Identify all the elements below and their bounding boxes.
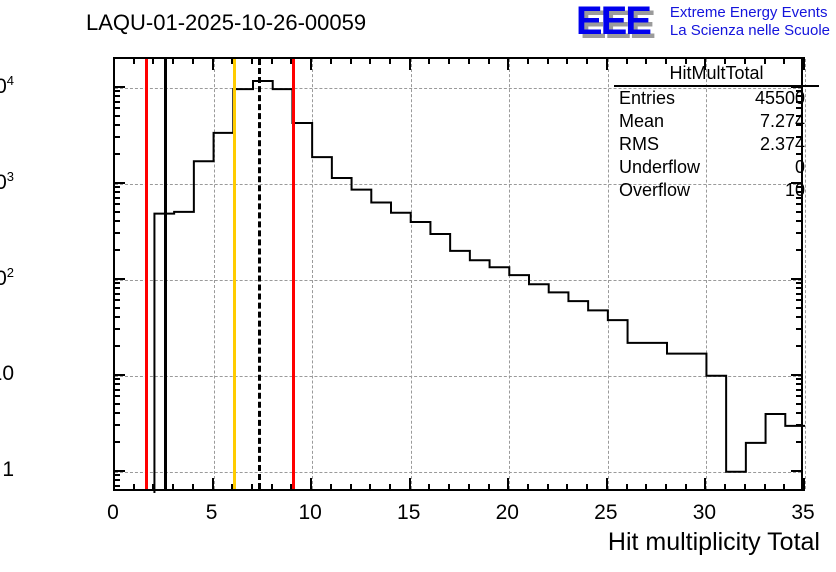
x-tick-top-minor-21	[527, 57, 529, 64]
x-tick-label-30: 30	[693, 501, 716, 525]
x-tick-minor-21	[527, 484, 529, 491]
x-tick-major-30	[704, 478, 706, 491]
eee-logo-mark: EEE EEE	[576, 2, 664, 42]
x-tick-top-minor-9	[290, 57, 292, 64]
page-title: LAQU-01-2025-10-26-00059	[86, 10, 366, 36]
x-axis-title: Hit multiplicity Total	[608, 528, 820, 557]
stats-box: HitMultTotal Entries45500Mean7.274RMS2.3…	[614, 63, 819, 202]
x-tick-minor-17	[448, 484, 450, 491]
eee-logo-line2: La Scienza nelle Scuole	[670, 22, 830, 40]
x-tick-top-minor-13	[369, 57, 371, 64]
x-tick-minor-2	[152, 484, 154, 491]
stats-row-underflow: Underflow0	[614, 156, 819, 179]
y-tick-label-4: 104	[0, 73, 14, 99]
x-tick-top-minor-4	[192, 57, 194, 64]
x-tick-minor-27	[645, 484, 647, 491]
x-tick-minor-4	[192, 484, 194, 491]
x-tick-minor-22	[547, 484, 549, 491]
x-tick-major-25	[606, 478, 608, 491]
stats-value-underflow: 0	[795, 156, 819, 179]
x-tick-top-minor-23	[566, 57, 568, 64]
x-tick-label-10: 10	[298, 501, 321, 525]
eee-logo: EEE EEE Extreme Energy Events La Scienza…	[576, 2, 830, 42]
x-tick-top-minor-1	[133, 57, 135, 64]
stats-value-entries: 45500	[755, 87, 819, 110]
x-tick-minor-3	[172, 484, 174, 491]
x-tick-top-minor-16	[428, 57, 430, 64]
x-tick-top-minor-14	[389, 57, 391, 64]
x-tick-top-minor-7	[251, 57, 253, 64]
x-tick-top-major-0	[113, 57, 115, 70]
x-tick-top-minor-12	[350, 57, 352, 64]
eee-logo-mark-front: EEE	[576, 2, 664, 42]
x-tick-label-25: 25	[594, 501, 617, 525]
stats-key-rms: RMS	[614, 133, 659, 156]
x-tick-minor-34	[783, 484, 785, 491]
x-tick-top-major-25	[606, 57, 608, 70]
x-tick-minor-12	[350, 484, 352, 491]
x-tick-label-0: 0	[107, 501, 119, 525]
x-tick-minor-31	[724, 484, 726, 491]
x-tick-major-5	[212, 478, 214, 491]
x-tick-label-5: 5	[206, 501, 218, 525]
y-tick-label-1: 10	[0, 362, 14, 386]
stats-row-entries: Entries45500	[614, 87, 819, 110]
stats-row-rms: RMS2.374	[614, 133, 819, 156]
x-tick-major-15	[409, 478, 411, 491]
x-tick-minor-1	[133, 484, 135, 491]
x-tick-minor-33	[764, 484, 766, 491]
x-tick-minor-14	[389, 484, 391, 491]
x-tick-top-minor-24	[586, 57, 588, 64]
x-tick-minor-11	[330, 484, 332, 491]
x-tick-minor-13	[369, 484, 371, 491]
x-tick-label-20: 20	[496, 501, 519, 525]
x-tick-top-major-5	[212, 57, 214, 70]
x-tick-minor-16	[428, 484, 430, 491]
eee-logo-line1: Extreme Energy Events	[670, 4, 830, 22]
x-tick-top-minor-22	[547, 57, 549, 64]
stats-key-mean: Mean	[614, 110, 664, 133]
x-tick-major-0	[113, 478, 115, 491]
stats-key-overflow: Overflow	[614, 179, 690, 202]
x-tick-label-15: 15	[397, 501, 420, 525]
x-tick-top-major-15	[409, 57, 411, 70]
stats-value-overflow: 10	[785, 179, 819, 202]
y-tick-label-3: 103	[0, 169, 14, 195]
x-tick-major-20	[507, 478, 509, 491]
x-tick-label-35: 35	[791, 501, 814, 525]
x-tick-minor-6	[231, 484, 233, 491]
x-tick-top-minor-17	[448, 57, 450, 64]
y-tick-label-0: 1	[2, 458, 14, 482]
x-tick-minor-26	[626, 484, 628, 491]
x-tick-top-minor-8	[271, 57, 273, 64]
x-tick-top-minor-11	[330, 57, 332, 64]
x-tick-minor-32	[744, 484, 746, 491]
x-tick-minor-7	[251, 484, 253, 491]
x-tick-minor-18	[468, 484, 470, 491]
x-tick-minor-29	[685, 484, 687, 491]
x-tick-minor-23	[566, 484, 568, 491]
x-tick-top-minor-18	[468, 57, 470, 64]
x-tick-minor-8	[271, 484, 273, 491]
stats-key-underflow: Underflow	[614, 156, 700, 179]
x-tick-top-minor-19	[488, 57, 490, 64]
stats-row-mean: Mean7.274	[614, 110, 819, 133]
x-tick-top-minor-6	[231, 57, 233, 64]
x-tick-minor-9	[290, 484, 292, 491]
x-tick-minor-19	[488, 484, 490, 491]
x-tick-minor-28	[665, 484, 667, 491]
x-tick-top-minor-3	[172, 57, 174, 64]
stats-value-mean: 7.274	[760, 110, 819, 133]
x-tick-minor-24	[586, 484, 588, 491]
x-tick-top-major-10	[310, 57, 312, 70]
x-tick-top-major-20	[507, 57, 509, 70]
stats-value-rms: 2.374	[760, 133, 819, 156]
x-tick-major-10	[310, 478, 312, 491]
eee-logo-text: Extreme Energy Events La Scienza nelle S…	[670, 2, 830, 40]
x-tick-major-35	[803, 478, 805, 491]
stats-rows: Entries45500Mean7.274RMS2.374Underflow0O…	[614, 87, 819, 202]
stats-key-entries: Entries	[614, 87, 675, 110]
y-tick-label-2: 102	[0, 265, 14, 291]
x-tick-top-minor-2	[152, 57, 154, 64]
stats-row-overflow: Overflow10	[614, 179, 819, 202]
stats-title: HitMultTotal	[614, 63, 819, 87]
